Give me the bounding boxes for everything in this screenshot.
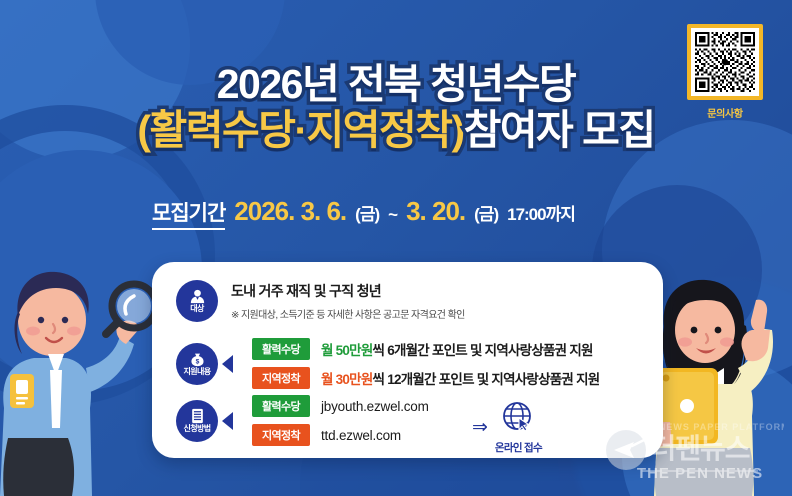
pointer-triangle <box>222 355 233 373</box>
headline-line-2-gold: (활력수당·지역정착) <box>137 107 463 153</box>
card-row-support: $ 지원내용 활력수당 월 50만원씩 6개월간 포인트 및 지역사랑상품권 지… <box>176 338 599 389</box>
support-rest-settlement: 씩 12개월간 포인트 및 지역사랑상품권 지원 <box>373 372 600 387</box>
person-glyph <box>189 289 206 304</box>
period-tilde: ~ <box>388 205 397 225</box>
svg-text:$: $ <box>195 358 199 365</box>
icon-label-target: 대상 <box>190 305 204 313</box>
support-amount-settlement: 월 30만원 <box>321 372 373 387</box>
poster-canvas: 문의사항 2026년 전북 청년수당 (활력수당·지역정착)참여자 모집 모집기… <box>0 0 792 496</box>
support-row: 지역정착 월 30만원씩 12개월간 포인트 및 지역사랑상품권 지원 <box>252 367 599 389</box>
icon-label-support: 지원내용 <box>183 368 210 376</box>
watermark-brand-en: THE PEN NEWS <box>637 465 763 482</box>
double-arrow-icon: ⇒ <box>472 418 488 437</box>
card-row-target: 대상 도내 거주 재직 및 구직 청년 ※ 지원대상, 소득기준 등 자세한 사… <box>176 280 465 322</box>
badge-settlement: 지역정착 <box>252 367 310 389</box>
apply-row: 활력수당 jbyouth.ezwel.com <box>252 395 429 417</box>
apply-url-settlement[interactable]: ttd.ezwel.com <box>321 428 401 443</box>
money-bag-glyph: $ <box>189 352 206 367</box>
support-row: 활력수당 월 50만원씩 6개월간 포인트 및 지역사랑상품권 지원 <box>252 338 599 360</box>
globe-cursor-icon <box>501 400 535 434</box>
support-rest-vitality: 씩 6개월간 포인트 및 지역사랑상품권 지원 <box>373 343 593 358</box>
card-row-apply: 신청방법 활력수당 jbyouth.ezwel.com 지역정착 ttd.ezw… <box>176 395 429 446</box>
pointer-triangle <box>222 412 233 430</box>
watermark-tagline: INTERNET NEWS PAPER PLATFORM <box>604 422 784 432</box>
headline-line-1: 2026년 전북 청년수당 <box>0 62 792 108</box>
online-caption: 온라인 접수 <box>495 440 542 455</box>
page-title: 2026년 전북 청년수당 (활력수당·지역정착)참여자 모집 <box>0 62 792 154</box>
target-note: ※ 지원대상, 소득기준 등 자세한 사항은 공고문 자격요건 확인 <box>231 306 465 321</box>
info-card: 대상 도내 거주 재직 및 구직 청년 ※ 지원대상, 소득기준 등 자세한 사… <box>152 262 663 458</box>
online-application-block[interactable]: ⇒ 온라인 접수 <box>472 400 542 455</box>
badge-settlement-apply: 지역정착 <box>252 424 310 446</box>
headline-line-2: (활력수당·지역정착)참여자 모집 <box>0 108 792 154</box>
money-bag-icon: $ 지원내용 <box>176 343 218 385</box>
person-icon: 대상 <box>176 280 218 322</box>
headline-line-2-white: 참여자 모집 <box>464 107 655 153</box>
period-start-day: (금) <box>355 200 379 225</box>
support-amount-vitality: 월 50만원 <box>321 343 373 358</box>
apply-row: 지역정착 ttd.ezwel.com <box>252 424 429 446</box>
target-title: 도내 거주 재직 및 구직 청년 <box>231 281 465 301</box>
badge-vitality: 활력수당 <box>252 338 310 360</box>
period-end-day: (금) <box>474 200 498 225</box>
period-label: 모집기간 <box>152 197 225 230</box>
icon-label-apply: 신청방법 <box>183 425 210 433</box>
recruitment-period: 모집기간 2026. 3. 6. (금) ~ 3. 20. (금) 17:00까… <box>152 196 575 230</box>
document-glyph <box>190 408 205 424</box>
period-end-date: 3. 20. <box>406 196 465 227</box>
person-with-magnifying-glass-illustration <box>0 258 164 496</box>
pen-logo-icon <box>606 430 648 470</box>
period-deadline: 17:00까지 <box>507 200 575 225</box>
period-start-date: 2026. 3. 6. <box>234 196 346 227</box>
watermark-logo: INTERNET NEWS PAPER PLATFORM 더펜뉴스 THE PE… <box>604 416 784 488</box>
headline-line-1-text: 2026년 전북 청년수당 <box>217 61 576 107</box>
document-icon: 신청방법 <box>176 400 218 442</box>
apply-url-vitality[interactable]: jbyouth.ezwel.com <box>321 399 429 414</box>
watermark-brand-ko: 더펜뉴스 <box>650 433 749 464</box>
badge-vitality-apply: 활력수당 <box>252 395 310 417</box>
